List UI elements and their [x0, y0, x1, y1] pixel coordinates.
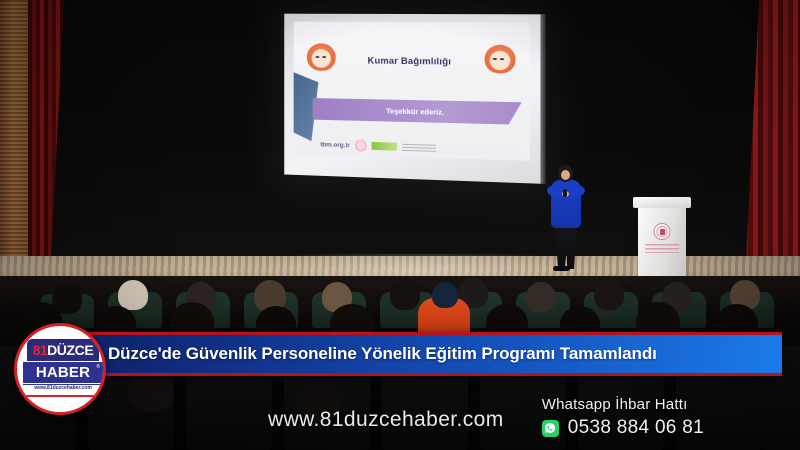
news-image-frame: Kumar Bağımlılığı Teşekkür ederiz. tbm.o… [0, 0, 800, 450]
logo-top-bar: 81 DÜZCE [27, 339, 99, 361]
logo-name: DÜZCE [47, 342, 93, 358]
microphone-icon [563, 189, 567, 197]
seal-logo-icon [355, 139, 367, 151]
ministry-emblem-icon [654, 223, 671, 240]
logo-number: 81 [33, 342, 47, 358]
whatsapp-title: Whatsapp İhbar Hattı [542, 396, 704, 413]
slide-thanks-text: Teşekkür ederiz. [386, 106, 444, 116]
audience-head [526, 282, 556, 312]
slide-thanks-bar: Teşekkür ederiz. [313, 98, 522, 125]
partner-logo-icon [402, 143, 436, 151]
logo-word: HABER [36, 364, 90, 381]
green-logo-icon [371, 142, 397, 151]
slide-source-url: tbm.org.tr [320, 141, 350, 149]
whatsapp-number[interactable]: 0538 884 06 81 [568, 417, 704, 439]
presentation-slide: Kumar Bağımlılığı Teşekkür ederiz. tbm.o… [294, 22, 530, 161]
registered-mark-icon: ® [96, 364, 100, 370]
cartoon-face-right-icon [485, 45, 516, 74]
whatsapp-block: Whatsapp İhbar Hattı 0538 884 06 81 [542, 396, 704, 439]
audience-head [594, 280, 624, 310]
audience-head [118, 280, 148, 310]
headline-text: Düzce'de Güvenlik Personeline Yönelik Eğ… [108, 344, 657, 364]
screen-edge [540, 14, 545, 184]
audience-head [432, 282, 458, 308]
left-wood-panel [0, 0, 30, 272]
slide-title: Kumar Bağımlılığı [368, 56, 452, 68]
podium [636, 197, 688, 283]
slide-footer-logos: tbm.org.tr [320, 137, 511, 157]
projection-screen: Kumar Bağımlılığı Teşekkür ederiz. tbm.o… [284, 14, 540, 184]
cartoon-face-left-icon [307, 43, 336, 71]
footer-site-url[interactable]: www.81duzcehaber.com [268, 408, 504, 432]
footer-bar: www.81duzcehaber.com Whatsapp İhbar Hatt… [0, 380, 800, 450]
audience-head [390, 280, 420, 310]
whatsapp-icon[interactable] [542, 420, 559, 437]
podium-caption [645, 244, 679, 253]
headline-banner: Düzce'de Güvenlik Personeline Yönelik Eğ… [60, 332, 782, 376]
speaker-figure [546, 165, 586, 273]
